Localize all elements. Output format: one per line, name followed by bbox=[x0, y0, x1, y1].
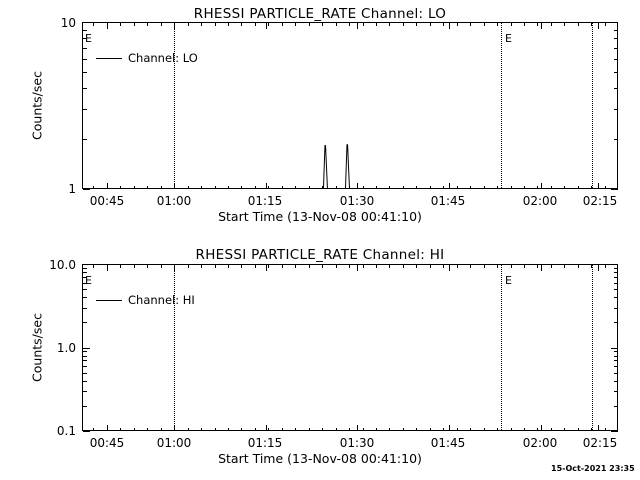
ytick-minor-right-hi bbox=[614, 381, 618, 382]
xtick-major-hi-4 bbox=[449, 425, 450, 431]
ytick-major-right-lo bbox=[611, 189, 618, 190]
ytick-minor-right-hi bbox=[614, 268, 618, 269]
xtick-minor-top-hi bbox=[188, 265, 189, 268]
xtick-minor-top-hi bbox=[255, 265, 256, 268]
xtick-minor-hi bbox=[188, 428, 189, 431]
xtick-minor-hi bbox=[201, 428, 202, 431]
panel-hi-xtick-0: 00:45 bbox=[90, 436, 125, 450]
xtick-minor-hi bbox=[537, 428, 538, 431]
xtick-minor-hi bbox=[336, 428, 337, 431]
xtick-minor-hi bbox=[389, 428, 390, 431]
ytick-minor-right-hi bbox=[614, 322, 618, 323]
panel-hi-xtick-1: 01:00 bbox=[157, 436, 192, 450]
xtick-minor-hi bbox=[416, 428, 417, 431]
xtick-minor-hi bbox=[564, 428, 565, 431]
ytick-major-hi bbox=[83, 264, 90, 265]
xtick-minor-top-hi bbox=[201, 265, 202, 268]
xtick-minor-hi bbox=[349, 428, 350, 431]
xtick-minor-hi bbox=[605, 428, 606, 431]
ytick-minor-right-hi bbox=[614, 283, 618, 284]
panel-hi-xtick-5: 02:00 bbox=[523, 436, 558, 450]
ytick-minor-hi bbox=[83, 297, 87, 298]
xtick-minor-hi bbox=[228, 428, 229, 431]
xtick-minor-hi bbox=[120, 428, 121, 431]
ytick-minor-hi bbox=[83, 289, 87, 290]
panel-hi-xtick-2: 01:15 bbox=[248, 436, 283, 450]
xtick-minor-hi bbox=[93, 428, 94, 431]
xtick-minor-hi bbox=[443, 428, 444, 431]
ytick-major-right-hi bbox=[611, 431, 618, 432]
xtick-minor-hi bbox=[470, 428, 471, 431]
xtick-minor-top-hi bbox=[349, 265, 350, 268]
xtick-minor-top-hi bbox=[551, 265, 552, 268]
ytick-minor-right-hi bbox=[614, 391, 618, 392]
xtick-minor-top-hi bbox=[363, 265, 364, 268]
panel-hi-title: RHESSI PARTICLE_RATE Channel: HI bbox=[0, 247, 640, 263]
ytick-minor-right-hi bbox=[614, 272, 618, 273]
ytick-minor-hi bbox=[83, 356, 87, 357]
xtick-minor-hi bbox=[295, 428, 296, 431]
ytick-minor-hi bbox=[83, 308, 87, 309]
ytick-minor-hi bbox=[83, 272, 87, 273]
eclipse-marker-hi-0: E bbox=[85, 275, 92, 286]
panel-lo-xaxis-title: Start Time (13-Nov-08 00:41:10) bbox=[0, 209, 640, 224]
xtick-minor-top-hi bbox=[322, 265, 323, 268]
xtick-major-top-hi-4 bbox=[449, 265, 450, 271]
xtick-major-top-hi-2 bbox=[266, 265, 267, 271]
xtick-minor-hi bbox=[497, 428, 498, 431]
panel-hi-xtick-6: 02:15 bbox=[583, 436, 618, 450]
ytick-minor-right-hi bbox=[614, 406, 618, 407]
xtick-minor-hi bbox=[551, 428, 552, 431]
panel-hi-legend: Channel: HI bbox=[96, 293, 195, 307]
xtick-minor-hi bbox=[376, 428, 377, 431]
xtick-minor-top-hi bbox=[161, 265, 162, 268]
xtick-major-top-hi-5 bbox=[541, 265, 542, 271]
ytick-minor-hi bbox=[83, 373, 87, 374]
ytick-minor-hi bbox=[83, 391, 87, 392]
panel-hi-xtick-4: 01:45 bbox=[431, 436, 466, 450]
xtick-minor-hi bbox=[403, 428, 404, 431]
legend-line-swatch-hi bbox=[96, 300, 122, 301]
panel-hi-yaxis-title: Counts/sec bbox=[30, 293, 45, 403]
ytick-minor-hi bbox=[83, 268, 87, 269]
xtick-minor-top-hi bbox=[537, 265, 538, 268]
panel-hi-xtick-3: 01:30 bbox=[340, 436, 375, 450]
xtick-minor-top-hi bbox=[295, 265, 296, 268]
xtick-minor-hi bbox=[430, 428, 431, 431]
ytick-minor-hi bbox=[83, 360, 87, 361]
panel-lo-yaxis-title: Counts/sec bbox=[30, 51, 45, 161]
xtick-major-top-hi-3 bbox=[357, 265, 358, 271]
panel-hi-ytick-10p0: 10.0 bbox=[24, 258, 76, 272]
panel-lo-title: RHESSI PARTICLE_RATE Channel: LO bbox=[0, 6, 640, 22]
xtick-minor-top-hi bbox=[93, 265, 94, 268]
xtick-minor-top-hi bbox=[443, 265, 444, 268]
xtick-major-hi-3 bbox=[357, 425, 358, 431]
ytick-minor-right-hi bbox=[614, 366, 618, 367]
xtick-minor-top-hi bbox=[228, 265, 229, 268]
xtick-minor-top-hi bbox=[336, 265, 337, 268]
ytick-minor-right-hi bbox=[614, 373, 618, 374]
panel-lo-ytick-1: 1 bbox=[36, 182, 76, 196]
ytick-major-right-hi bbox=[611, 264, 618, 265]
xtick-major-hi-0 bbox=[107, 425, 108, 431]
ytick-minor-right-hi bbox=[614, 308, 618, 309]
ytick-minor-hi bbox=[83, 351, 87, 352]
eclipse-marker-hi-1: E bbox=[505, 275, 512, 286]
panel-hi-xaxis-title: Start Time (13-Nov-08 00:41:10) bbox=[0, 451, 640, 466]
xtick-major-hi-6 bbox=[598, 425, 599, 431]
legend-label-hi: Channel: HI bbox=[128, 293, 195, 307]
panel-lo-xtick-4: 01:45 bbox=[431, 194, 466, 208]
xtick-minor-top-hi bbox=[605, 265, 606, 268]
xtick-minor-top-hi bbox=[430, 265, 431, 268]
xtick-minor-top-hi bbox=[215, 265, 216, 268]
xtick-minor-top-hi bbox=[241, 265, 242, 268]
xtick-minor-hi bbox=[363, 428, 364, 431]
event-line-hi-2 bbox=[592, 265, 594, 430]
ytick-minor-right-hi bbox=[614, 356, 618, 357]
event-line-hi-0 bbox=[174, 265, 176, 430]
xtick-minor-hi bbox=[268, 428, 269, 431]
xtick-minor-top-hi bbox=[134, 265, 135, 268]
panel-lo-xtick-1: 01:00 bbox=[157, 194, 192, 208]
xtick-minor-top-hi bbox=[564, 265, 565, 268]
xtick-minor-top-hi bbox=[484, 265, 485, 268]
plot-canvas: RHESSI PARTICLE_RATE Channel: LO 1 10 Co… bbox=[0, 0, 640, 480]
xtick-minor-hi bbox=[241, 428, 242, 431]
xtick-major-hi-5 bbox=[541, 425, 542, 431]
xtick-minor-hi bbox=[524, 428, 525, 431]
ytick-minor-right-hi bbox=[614, 351, 618, 352]
xtick-minor-hi bbox=[215, 428, 216, 431]
xtick-minor-top-hi bbox=[578, 265, 579, 268]
data-series-lo bbox=[83, 23, 617, 188]
render-timestamp: 15-Oct-2021 23:35 bbox=[551, 464, 635, 473]
xtick-minor-top-hi bbox=[497, 265, 498, 268]
xtick-minor-top-hi bbox=[470, 265, 471, 268]
xtick-minor-top-hi bbox=[268, 265, 269, 268]
xtick-minor-top-hi bbox=[120, 265, 121, 268]
xtick-minor-hi bbox=[511, 428, 512, 431]
xtick-minor-hi bbox=[457, 428, 458, 431]
ytick-minor-hi bbox=[83, 381, 87, 382]
ytick-major-lo bbox=[83, 189, 90, 190]
ytick-major-hi bbox=[83, 431, 90, 432]
xtick-minor-hi bbox=[309, 428, 310, 431]
xtick-major-hi-2 bbox=[266, 425, 267, 431]
xtick-minor-hi bbox=[255, 428, 256, 431]
xtick-minor-top-hi bbox=[389, 265, 390, 268]
xtick-minor-hi bbox=[161, 428, 162, 431]
xtick-minor-hi bbox=[322, 428, 323, 431]
ytick-minor-right-hi bbox=[614, 360, 618, 361]
panel-lo-xtick-5: 02:00 bbox=[523, 194, 558, 208]
ytick-minor-hi bbox=[83, 322, 87, 323]
xtick-minor-top-hi bbox=[416, 265, 417, 268]
panel-lo-xtick-3: 01:30 bbox=[340, 194, 375, 208]
panel-lo-xtick-6: 02:15 bbox=[583, 194, 618, 208]
xtick-minor-top-hi bbox=[376, 265, 377, 268]
xtick-minor-top-hi bbox=[457, 265, 458, 268]
xtick-minor-hi bbox=[147, 428, 148, 431]
xtick-minor-hi bbox=[282, 428, 283, 431]
xtick-minor-top-hi bbox=[282, 265, 283, 268]
xtick-major-top-hi-0 bbox=[107, 265, 108, 271]
ytick-minor-hi bbox=[83, 366, 87, 367]
panel-hi-ytick-0p1: 0.1 bbox=[24, 424, 76, 438]
xtick-minor-top-hi bbox=[403, 265, 404, 268]
panel-lo-ytick-10: 10 bbox=[36, 16, 76, 30]
panel-lo-xtick-2: 01:15 bbox=[248, 194, 283, 208]
xtick-minor-hi bbox=[578, 428, 579, 431]
panel-hi-plot-frame bbox=[82, 264, 618, 431]
xtick-minor-hi bbox=[484, 428, 485, 431]
ytick-major-hi bbox=[83, 348, 90, 349]
xtick-minor-top-hi bbox=[511, 265, 512, 268]
xtick-minor-top-hi bbox=[147, 265, 148, 268]
event-line-hi-1 bbox=[501, 265, 503, 430]
ytick-minor-right-hi bbox=[614, 277, 618, 278]
ytick-minor-hi bbox=[83, 406, 87, 407]
ytick-minor-right-hi bbox=[614, 289, 618, 290]
xtick-minor-hi bbox=[134, 428, 135, 431]
ytick-minor-right-hi bbox=[614, 297, 618, 298]
xtick-minor-top-hi bbox=[524, 265, 525, 268]
ytick-major-right-hi bbox=[611, 348, 618, 349]
xtick-major-top-hi-6 bbox=[598, 265, 599, 271]
panel-lo-xtick-0: 00:45 bbox=[90, 194, 125, 208]
xtick-minor-top-hi bbox=[309, 265, 310, 268]
